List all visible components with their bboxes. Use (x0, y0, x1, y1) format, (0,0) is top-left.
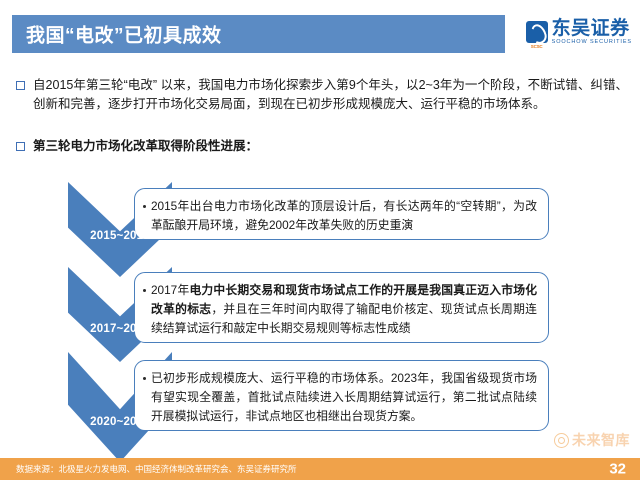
timeline-chevron-group: 2015~2017 2015年出台电力市场化改革的顶层设计后，有长达两年的“空转… (68, 182, 558, 460)
brand-mark-subtext: SCSC (526, 44, 548, 49)
dot-bullet-icon (143, 289, 146, 292)
timeline-callout-box: 2015年出台电力市场化改革的顶层设计后，有长达两年的“空转期”，为改革酝酿开局… (134, 188, 549, 240)
timeline-period-label: 2015~2017 (68, 230, 172, 242)
body-bullet-2: 第三轮电力市场化改革取得阶段性进展： (16, 137, 628, 156)
watermark-label: 未来智库 (572, 430, 630, 450)
watermark-logo-icon (554, 433, 569, 448)
brand-name-en: SOOCHOW SECURITIES (552, 40, 632, 46)
watermark: 未来智库 (554, 430, 630, 450)
square-bullet-icon (16, 142, 25, 151)
timeline-item-text: 2017年电力中长期交易和现货市场试点工作的开展是我国真正迈入市场化改革的标志，… (151, 281, 537, 338)
timeline-period-label: 2020~2023 (68, 416, 172, 428)
body-bullet-2-text: 第三轮电力市场化改革取得阶段性进展： (33, 137, 258, 156)
timeline-item-text: 已初步形成规模庞大、运行平稳的市场体系。2023年，我国省级现货市场有望实现全覆… (151, 369, 537, 426)
body-bullet-1: 自2015年第三轮“电改” 以来，我国电力市场化探索步入第9个年头，以2~3年为… (16, 76, 628, 114)
brand-name-cn: 东吴证券 (552, 19, 632, 38)
timeline-period-label: 2017~2020 (68, 323, 172, 335)
dot-bullet-icon (143, 205, 146, 208)
page-number: 32 (609, 461, 626, 478)
dot-bullet-icon (143, 377, 146, 380)
timeline-callout-box: 已初步形成规模庞大、运行平稳的市场体系。2023年，我国省级现货市场有望实现全覆… (134, 360, 549, 431)
page-title: 我国“电改”已初具成效 (26, 21, 222, 48)
brand-text-block: 东吴证券 SOOCHOW SECURITIES (552, 19, 632, 46)
body-bullet-1-text: 自2015年第三轮“电改” 以来，我国电力市场化探索步入第9个年头，以2~3年为… (33, 76, 628, 114)
footer-source-text: 数据来源：北极星火力发电网、中国经济体制改革研究会、东吴证券研究所 (16, 463, 297, 475)
brand-logo: SCSC 东吴证券 SOOCHOW SECURITIES (526, 19, 632, 46)
timeline-item-text: 2015年出台电力市场化改革的顶层设计后，有长达两年的“空转期”，为改革酝酿开局… (151, 197, 537, 235)
footer-bar: 数据来源：北极星火力发电网、中国经济体制改革研究会、东吴证券研究所 32 (0, 458, 640, 480)
timeline-callout-box: 2017年电力中长期交易和现货市场试点工作的开展是我国真正迈入市场化改革的标志，… (134, 272, 549, 343)
slide-title-bar: 我国“电改”已初具成效 (12, 15, 505, 53)
square-bullet-icon (16, 81, 25, 90)
slide-canvas: 我国“电改”已初具成效 SCSC 东吴证券 SOOCHOW SECURITIES… (0, 0, 640, 480)
soochow-logo-icon: SCSC (526, 21, 548, 43)
